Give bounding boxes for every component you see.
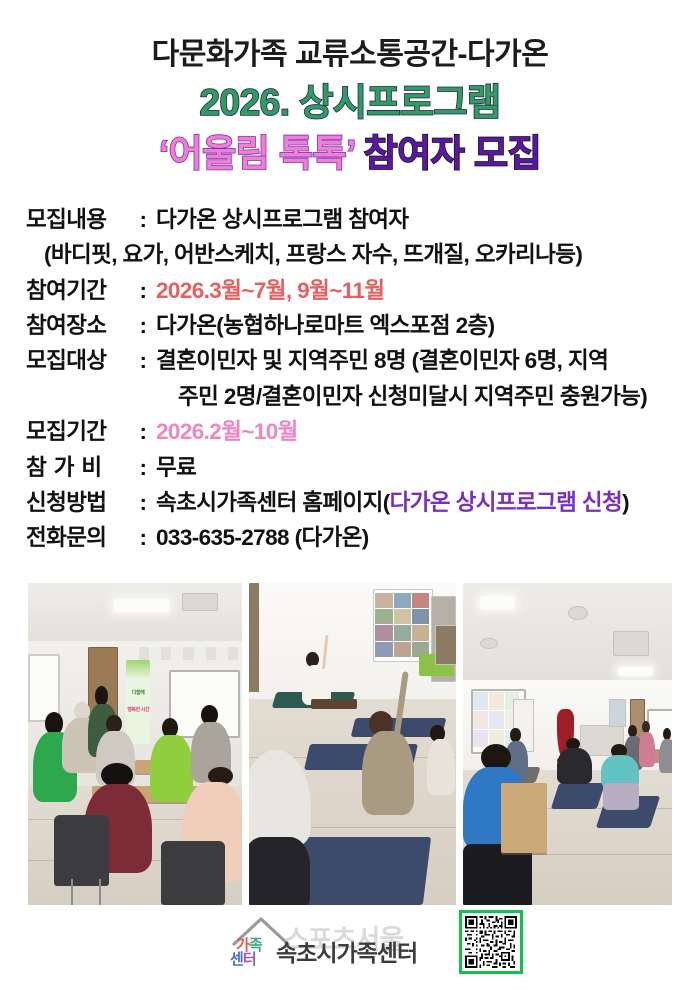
poster-title-block: 다문화가족 교류소통공간-다가온 2026. 상시프로그램 ‘어울림 톡톡’ 참…	[0, 0, 700, 178]
poster-title-program-name: ‘어울림 톡톡’	[159, 133, 355, 174]
info-row-period: 참여기간 : 2026.3월~7월, 9월~11월	[26, 275, 678, 307]
poster-info-block: 모집내용 : 다가온 상시프로그램 참여자 (바디핏, 요가, 어반스케치, 프…	[0, 204, 700, 555]
info-row-location: 참여장소 : 다가온(농협하나로마트 엑스포점 2층)	[26, 310, 678, 342]
info-value-content: 다가온 상시프로그램 참여자	[156, 204, 678, 236]
info-colon: :	[130, 345, 156, 377]
apply-method-link[interactable]: 다가온 상시프로그램 신청	[390, 490, 622, 515]
info-value-fee: 무료	[156, 452, 678, 484]
info-row-apply-period: 모집기간 : 2026.2월~10월	[26, 416, 678, 448]
poster-title-recruit: 참여자 모집	[364, 133, 541, 174]
apply-method-text: 속초시가족센터 홈페이지(	[156, 490, 390, 515]
poster-root: 다문화가족 교류소통공간-다가온 2026. 상시프로그램 ‘어울림 톡톡’ 참…	[0, 0, 700, 990]
poster-title-year-program: 2026. 상시프로그램	[0, 80, 700, 126]
photo-strip: 다함께 행복한 시간	[28, 583, 672, 905]
info-colon: :	[130, 204, 156, 236]
info-label-apply-period: 모집기간	[26, 416, 130, 448]
info-row-content: 모집내용 : 다가온 상시프로그램 참여자	[26, 204, 678, 236]
info-label-target: 모집대상	[26, 345, 130, 377]
info-value-period: 2026.3월~7월, 9월~11월	[156, 275, 678, 307]
info-colon: :	[130, 310, 156, 342]
info-value-target: 결혼이민자 및 지역주민 8명 (결혼이민자 6명, 지역	[156, 345, 678, 377]
info-subvalue-content-list: (바디핏, 요가, 어반스케치, 프랑스 자수, 뜨개질, 오카리나등)	[26, 239, 678, 271]
info-subvalue-target: 주민 2명/결혼이민자 신청미달시 지역주민 충원가능)	[26, 381, 678, 413]
banner-text-1: 다함께	[132, 689, 145, 696]
info-label-fee: 참가비	[26, 452, 130, 484]
photo-yoga-class	[249, 583, 456, 905]
info-row-apply-method: 신청방법 : 속초시가족센터 홈페이지(다가온 상시프로그램 신청)	[26, 487, 678, 519]
info-label-apply-method: 신청방법	[26, 487, 130, 519]
poster-title-main: ‘어울림 톡톡’ 참여자 모집	[0, 130, 700, 178]
info-colon: :	[130, 522, 156, 554]
info-value-phone: 033-635-2788 (다가온)	[156, 522, 678, 554]
qr-code[interactable]	[459, 910, 523, 974]
poster-subtitle-line: 다문화가족 교류소통공간-다가온	[0, 36, 700, 74]
info-row-target: 모집대상 : 결혼이민자 및 지역주민 8명 (결혼이민자 6명, 지역	[26, 345, 678, 377]
info-colon: :	[130, 416, 156, 448]
footer-logo-group: 가족 센터 스포츠서울 속초시가족센터	[228, 912, 458, 974]
info-value-apply-period: 2026.2월~10월	[156, 416, 678, 448]
photo-bodyfit-class	[463, 583, 672, 905]
info-label-period: 참여기간	[26, 275, 130, 307]
qr-code-image	[465, 916, 517, 968]
banner-text-2: 행복한 시간	[127, 706, 149, 713]
info-row-phone: 전화문의 : 033-635-2788 (다가온)	[26, 522, 678, 554]
info-label-location: 참여장소	[26, 310, 130, 342]
info-row-fee: 참가비 : 무료	[26, 452, 678, 484]
apply-method-tail: )	[622, 490, 629, 515]
info-label-content: 모집내용	[26, 204, 130, 236]
logo-char-sen: 센	[230, 951, 243, 968]
info-colon: :	[130, 275, 156, 307]
info-value-apply-method: 속초시가족센터 홈페이지(다가온 상시프로그램 신청)	[156, 487, 678, 519]
footer-center-name: 속초시가족센터	[276, 934, 417, 968]
photo-classroom-craft: 다함께 행복한 시간	[28, 583, 242, 905]
info-label-phone: 전화문의	[26, 522, 130, 554]
poster-footer: 가족 센터 스포츠서울 속초시가족센터	[0, 910, 700, 982]
info-colon: :	[130, 452, 156, 484]
info-value-location: 다가온(농협하나로마트 엑스포점 2층)	[156, 310, 678, 342]
info-colon: :	[130, 487, 156, 519]
family-center-logo-text-row2: 센터	[230, 948, 256, 969]
logo-char-teo: 터	[243, 951, 256, 968]
